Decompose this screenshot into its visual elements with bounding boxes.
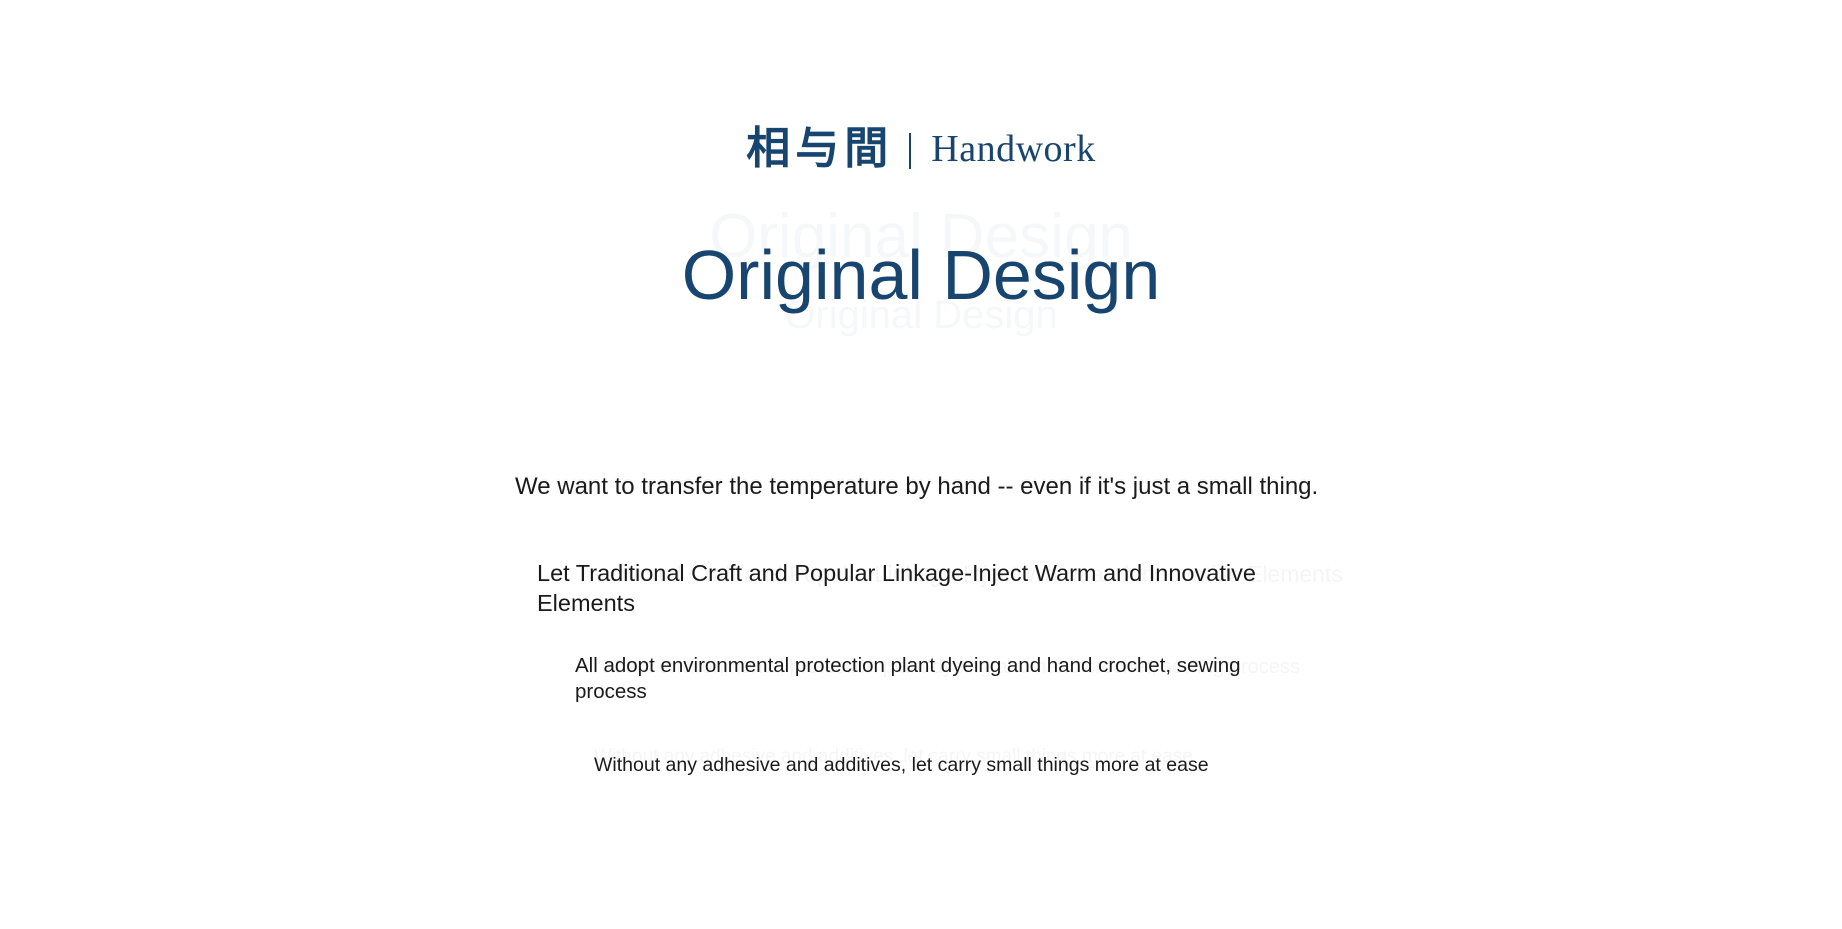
brand-divider-icon — [909, 133, 911, 169]
tagline-paragraph: We want to transfer the temperature by h… — [515, 472, 1415, 503]
adhesive-statement-paragraph: Without any adhesive and additives, let … — [594, 753, 1274, 778]
materials-statement-paragraph: All adopt environmental protection plant… — [575, 653, 1255, 705]
brand-latin-name: Handwork — [931, 128, 1095, 170]
brand-logo: 相与間Handwork — [0, 127, 1842, 171]
page-title: Original Design — [0, 235, 1842, 316]
craft-statement-paragraph: Let Traditional Craft and Popular Linkag… — [537, 558, 1327, 618]
page-root: Original Design Original Design We want … — [0, 0, 1842, 929]
brand-cjk-name: 相与間 — [746, 124, 893, 173]
